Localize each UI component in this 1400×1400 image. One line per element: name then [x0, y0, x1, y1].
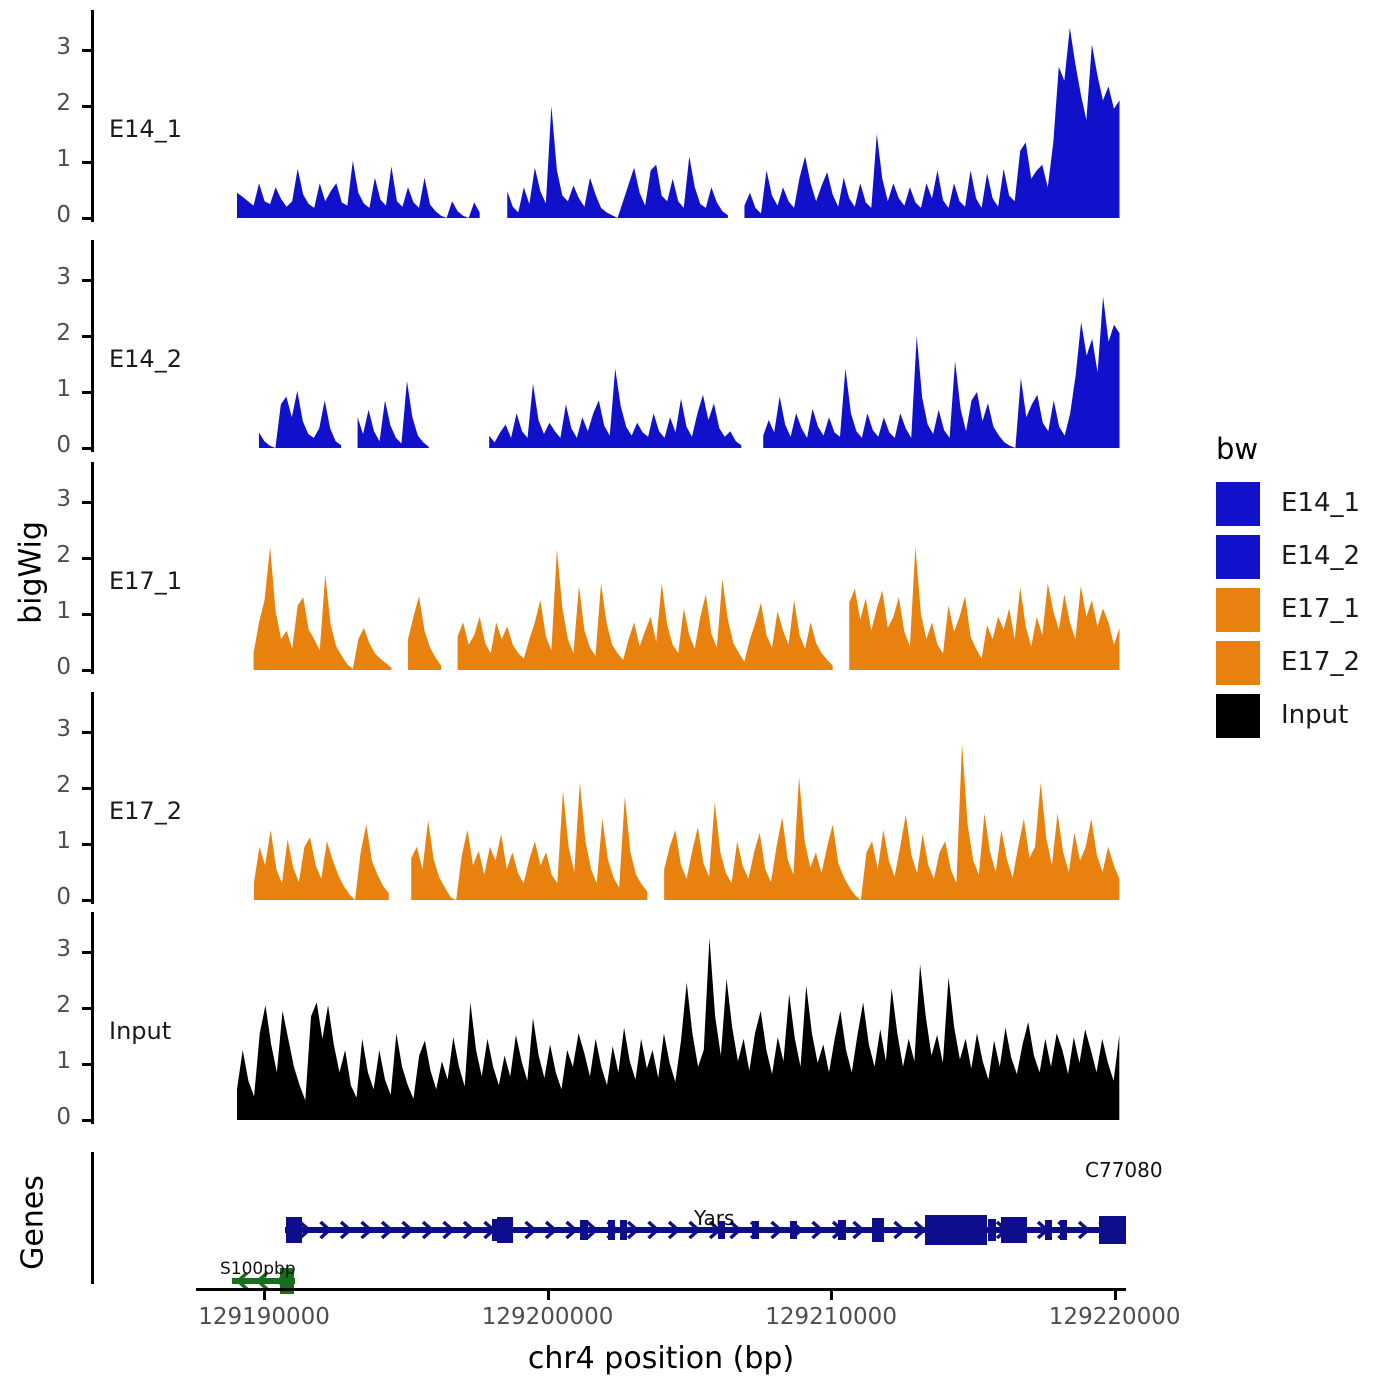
legend-key-e17_2[interactable] — [1216, 641, 1260, 685]
y-tick-mark — [82, 557, 91, 560]
signal-area-e14_1 — [91, 10, 1126, 230]
legend-label-e14_1: E14_1 — [1281, 488, 1360, 518]
track-panel-e14_1 — [91, 10, 1126, 230]
signal-segment — [458, 550, 833, 670]
y-tick-label: 2 — [13, 320, 71, 346]
track-label-e14_1: E14_1 — [109, 115, 182, 143]
y-tick-mark — [82, 501, 91, 504]
x-tick-mark — [830, 1291, 833, 1300]
y-tick-label: 3 — [13, 716, 71, 742]
y-tick-label: 0 — [13, 654, 71, 680]
y-tick-mark — [82, 1007, 91, 1010]
x-tick-mark — [547, 1291, 550, 1300]
y-tick-mark — [82, 447, 91, 450]
legend-label-e17_2: E17_2 — [1281, 647, 1360, 677]
y-tick-label: 1 — [13, 598, 71, 624]
y-axis-title-genes: Genes — [16, 1173, 51, 1273]
gene-label-s100pbp: S100pbp — [220, 1259, 296, 1279]
y-tick-label: 0 — [13, 202, 71, 228]
signal-segment — [254, 824, 389, 900]
signal-area-e17_2 — [91, 692, 1126, 912]
y-tick-mark — [82, 161, 91, 164]
signal-area-input — [91, 912, 1126, 1132]
gene-label-yars: Yars — [694, 1206, 734, 1230]
y-tick-label: 0 — [13, 432, 71, 458]
track-label-input: Input — [109, 1017, 171, 1045]
y-tick-mark — [82, 335, 91, 338]
gene-exon — [497, 1217, 513, 1243]
y-tick-label: 0 — [13, 884, 71, 910]
signal-segment — [254, 547, 392, 670]
y-tick-label: 2 — [13, 772, 71, 798]
signal-segment — [259, 391, 341, 448]
y-tick-label: 3 — [13, 34, 71, 60]
track-label-e17_1: E17_1 — [109, 567, 182, 595]
signal-area-e17_1 — [91, 462, 1126, 682]
y-tick-mark — [82, 731, 91, 734]
legend-key-e17_1[interactable] — [1216, 588, 1260, 632]
legend-key-input[interactable] — [1216, 694, 1260, 738]
signal-segment — [507, 106, 728, 218]
legend-key-e14_1[interactable] — [1216, 482, 1260, 526]
x-tick-mark — [1114, 1291, 1117, 1300]
y-tick-label: 1 — [13, 146, 71, 172]
y-tick-mark — [82, 217, 91, 220]
track-panel-input — [91, 912, 1126, 1132]
legend-title: bw — [1216, 432, 1258, 466]
signal-segment — [763, 297, 1119, 448]
x-tick-label: 129210000 — [721, 1304, 941, 1330]
y-tick-mark — [82, 391, 91, 394]
y-tick-mark — [82, 279, 91, 282]
gene-exon — [1099, 1216, 1126, 1244]
y-tick-label: 3 — [13, 486, 71, 512]
track-panel-e17_2 — [91, 692, 1126, 912]
y-tick-mark — [82, 49, 91, 52]
genome-browser-figure: bigWig Genes chr4 position (bp) Yars S10… — [0, 0, 1400, 1400]
gene-exon — [925, 1215, 987, 1245]
track-panel-e14_2 — [91, 240, 1126, 460]
signal-area-e14_2 — [91, 240, 1126, 460]
signal-segment — [489, 368, 741, 448]
signal-segment — [237, 938, 1119, 1120]
y-tick-label: 2 — [13, 542, 71, 568]
track-label-e14_2: E14_2 — [109, 345, 182, 373]
signal-segment — [664, 743, 1119, 900]
x-axis-line — [196, 1288, 1126, 1291]
gene-label-c77080: C77080 — [1085, 1158, 1163, 1182]
gene-exon — [988, 1219, 996, 1241]
x-axis-title: chr4 position (bp) — [196, 1341, 1126, 1376]
legend-key-e14_2[interactable] — [1216, 535, 1260, 579]
y-tick-mark — [82, 843, 91, 846]
legend-label-e14_2: E14_2 — [1281, 541, 1360, 571]
y-tick-label: 2 — [13, 90, 71, 116]
y-tick-label: 1 — [13, 828, 71, 854]
signal-segment — [237, 161, 480, 218]
track-label-e17_2: E17_2 — [109, 797, 182, 825]
signal-segment — [408, 596, 441, 670]
signal-segment — [358, 381, 429, 448]
y-tick-mark — [82, 1063, 91, 1066]
y-tick-label: 1 — [13, 1048, 71, 1074]
gene-exon — [286, 1217, 302, 1243]
y-tick-mark — [82, 951, 91, 954]
gene-exon — [620, 1220, 627, 1240]
signal-segment — [411, 782, 647, 900]
y-tick-label: 2 — [13, 992, 71, 1018]
y-tick-mark — [82, 105, 91, 108]
track-panel-e17_1 — [91, 462, 1126, 682]
x-tick-label: 129220000 — [1005, 1304, 1225, 1330]
y-tick-label: 3 — [13, 264, 71, 290]
y-tick-label: 1 — [13, 376, 71, 402]
signal-segment — [744, 28, 1119, 218]
y-tick-mark — [82, 669, 91, 672]
x-tick-mark — [263, 1291, 266, 1300]
signal-segment — [849, 547, 1119, 670]
legend-label-e17_1: E17_1 — [1281, 594, 1360, 624]
y-tick-label: 0 — [13, 1104, 71, 1130]
y-tick-mark — [82, 899, 91, 902]
y-tick-mark — [82, 1119, 91, 1122]
y-tick-mark — [82, 787, 91, 790]
x-tick-label: 129190000 — [154, 1304, 374, 1330]
legend-label-input: Input — [1281, 700, 1348, 730]
y-tick-mark — [82, 613, 91, 616]
x-tick-label: 129200000 — [438, 1304, 658, 1330]
y-tick-label: 3 — [13, 936, 71, 962]
